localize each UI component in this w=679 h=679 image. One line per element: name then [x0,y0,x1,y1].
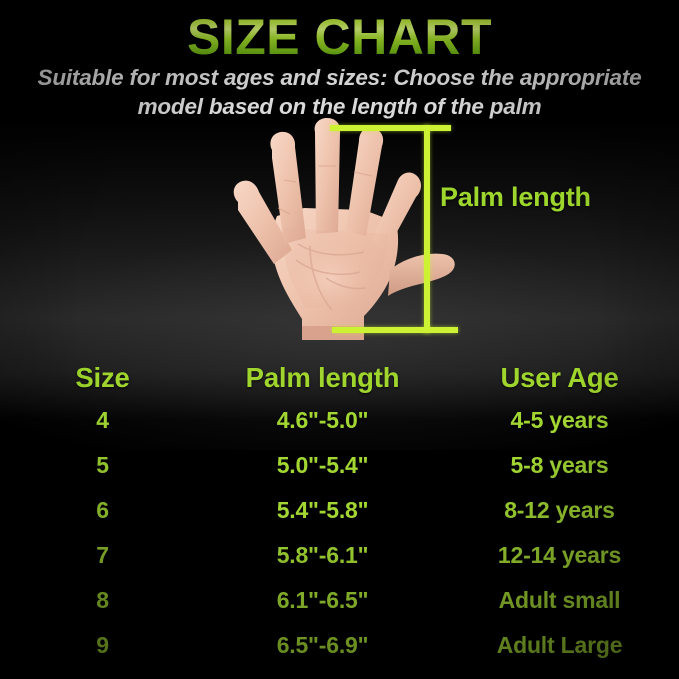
cell-palm-length: 6.1"-6.5" [205,587,440,614]
column-header-size: Size [0,362,205,394]
page-subtitle: Suitable for most ages and sizes: Choose… [18,64,661,122]
cell-user-age: 8-12 years [440,497,679,524]
table-row: 6 5.4"-5.8" 8-12 years [0,488,679,533]
cell-user-age: Adult Large [440,632,679,659]
cell-palm-length: 5.8"-6.1" [205,542,440,569]
cell-size: 9 [0,632,205,659]
table-row: 8 6.1"-6.5" Adult small [0,578,679,623]
page-title: SIZE CHART [0,11,679,64]
table-row: 4 4.6"-5.0" 4-5 years [0,398,679,443]
bracket-vertical-line [424,125,430,333]
bracket-top-line [330,125,451,131]
cell-size: 7 [0,542,205,569]
cell-size: 6 [0,497,205,524]
column-header-palm-length: Palm length [205,362,440,394]
cell-size: 5 [0,452,205,479]
thumb [388,254,455,296]
table-row: 9 6.5"-6.9" Adult Large [0,623,679,668]
table-header-row: Size Palm length User Age [0,358,679,398]
cell-palm-length: 5.4"-5.8" [205,497,440,524]
cell-palm-length: 6.5"-6.9" [205,632,440,659]
middle-finger [315,118,341,234]
cell-user-age: 5-8 years [440,452,679,479]
size-table: Size Palm length User Age 4 4.6"-5.0" 4-… [0,358,679,668]
cell-size: 8 [0,587,205,614]
bracket-bottom-line [332,327,458,333]
cell-user-age: 4-5 years [440,407,679,434]
cell-size: 4 [0,407,205,434]
cell-user-age: 12-14 years [440,542,679,569]
cell-user-age: Adult small [440,587,679,614]
table-row: 5 5.0"-5.4" 5-8 years [0,443,679,488]
cell-palm-length: 4.6"-5.0" [205,407,440,434]
column-header-user-age: User Age [440,362,679,394]
palm-length-measurement-label: Palm length [440,182,591,213]
table-row: 7 5.8"-6.1" 12-14 years [0,533,679,578]
cell-palm-length: 5.0"-5.4" [205,452,440,479]
size-chart-page: SIZE CHART Suitable for most ages and si… [0,0,679,679]
